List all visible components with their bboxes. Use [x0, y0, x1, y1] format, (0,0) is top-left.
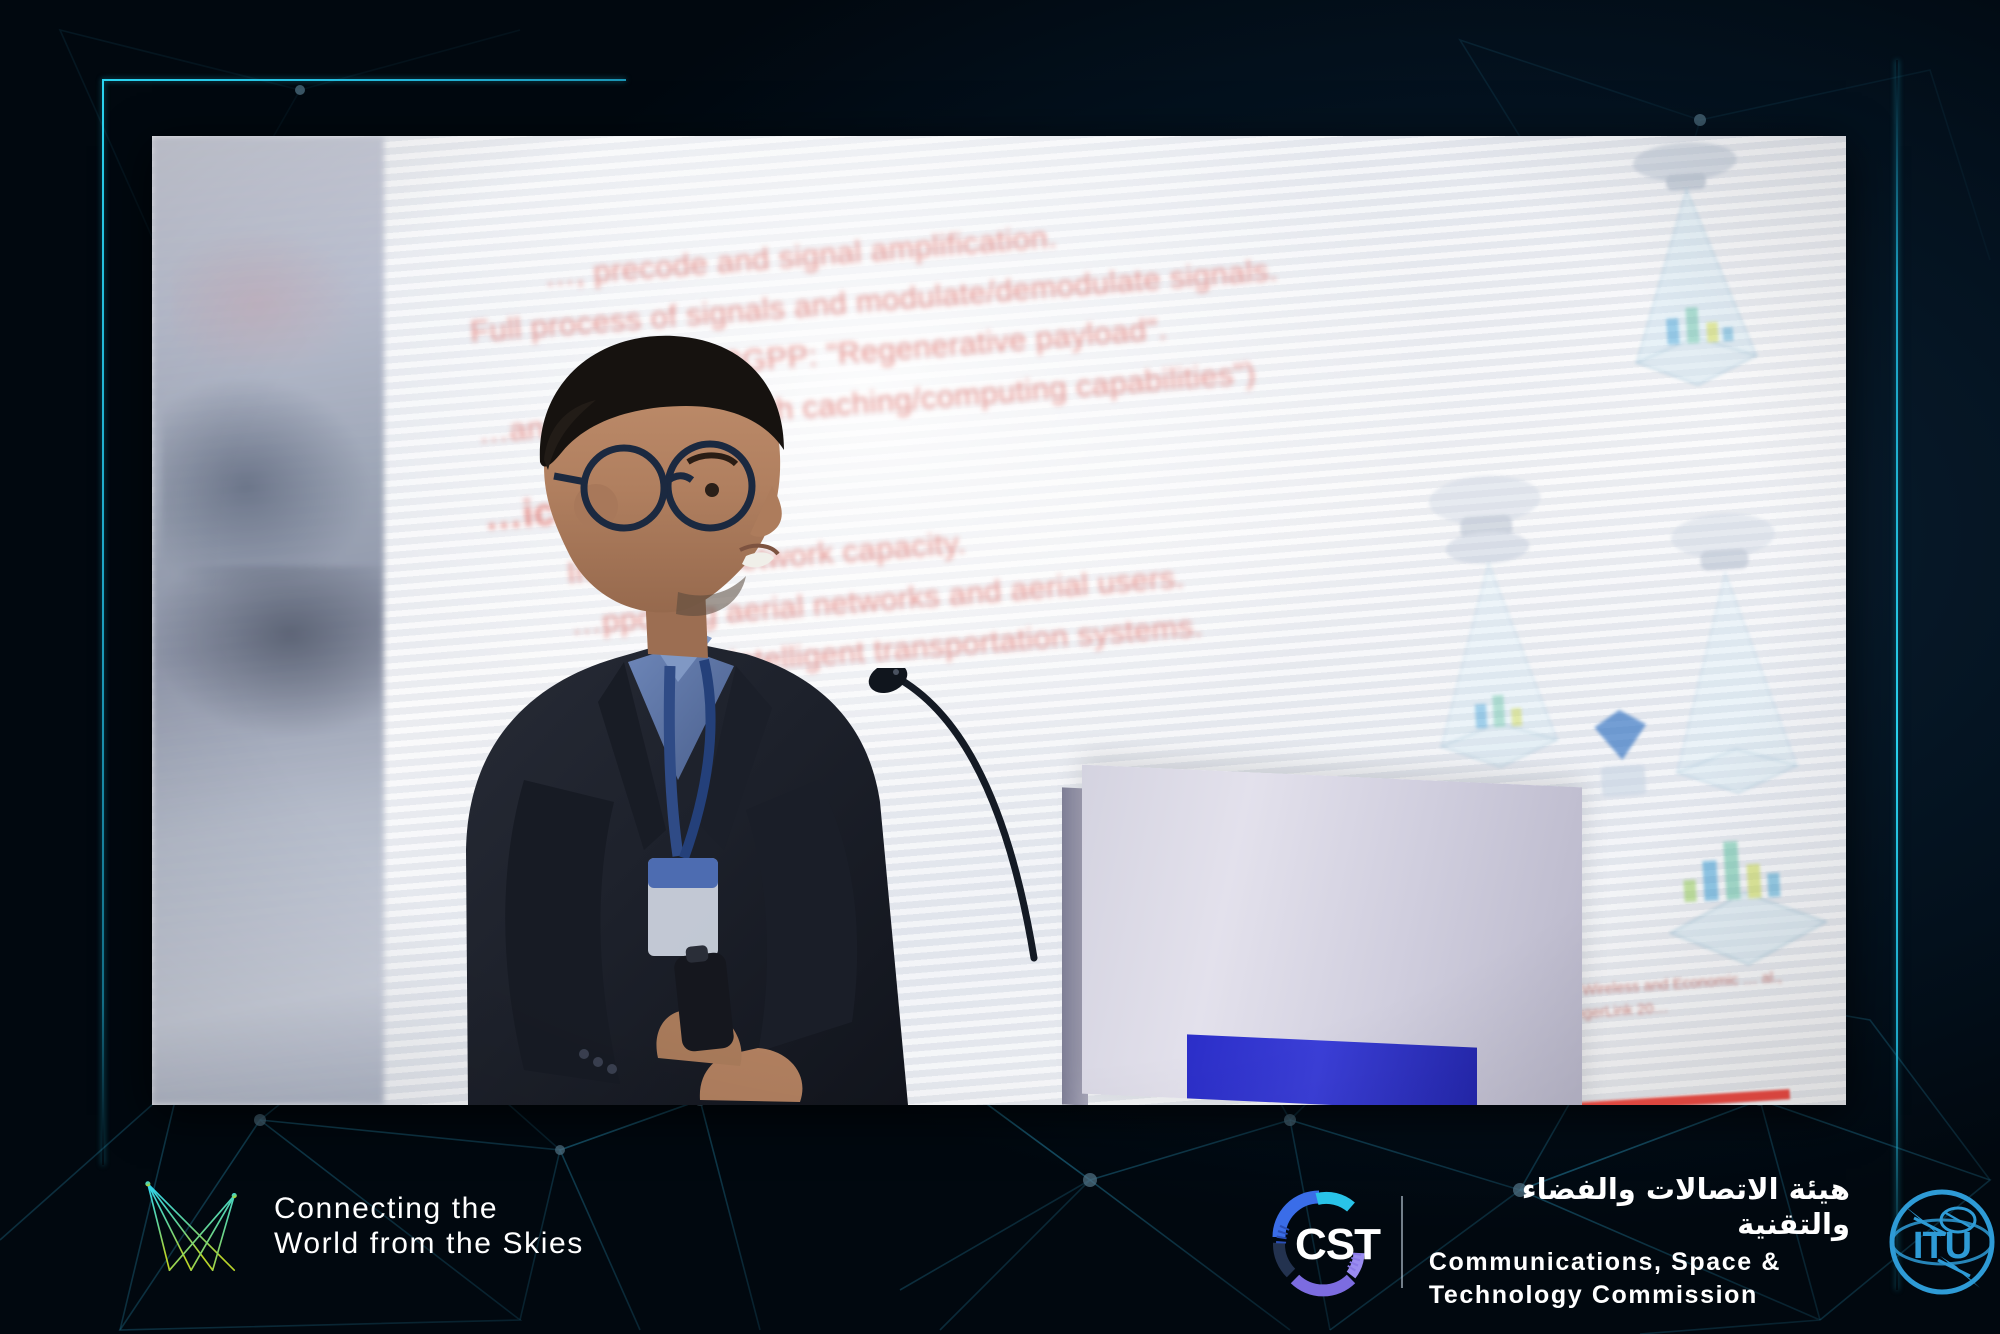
brand-connecting-the-world: Connecting the World from the Skies — [140, 1172, 584, 1280]
brand-divider — [1401, 1196, 1403, 1288]
podium-branding-panel — [1187, 1034, 1477, 1105]
speaker-person — [348, 310, 988, 1105]
poster-canvas: …, precode and signal amplification. Ful… — [0, 0, 2000, 1334]
skies-tagline-line1: Connecting the — [274, 1191, 584, 1226]
cst-english-line2: Technology Commission — [1429, 1279, 1850, 1312]
frame-line-left — [102, 80, 104, 1165]
skies-tagline: Connecting the World from the Skies — [274, 1191, 584, 1262]
connecting-the-world-from-the-skies-logo — [140, 1172, 248, 1280]
itu-logo-text: ITU — [1913, 1225, 1971, 1267]
conference-speaker-photo: …, precode and signal amplification. Ful… — [152, 136, 1846, 1105]
brand-cst-itu: CST هيئة الاتصالات والفضاء والتقنية Comm… — [1255, 1172, 2000, 1312]
frame-line-right — [1896, 60, 1898, 1290]
cst-wordmark: هيئة الاتصالات والفضاء والتقنية Communic… — [1429, 1172, 1850, 1312]
cst-english-line1: Communications, Space & — [1429, 1246, 1850, 1279]
itu-logo: ITU — [1884, 1184, 2000, 1300]
cst-logo-text: CST — [1295, 1220, 1381, 1269]
cst-logo-mark: CST — [1255, 1183, 1387, 1301]
cst-arabic-name: هيئة الاتصالات والفضاء والتقنية — [1429, 1172, 1850, 1242]
frame-line-top — [102, 79, 626, 81]
skies-tagline-line2: World from the Skies — [274, 1226, 584, 1261]
